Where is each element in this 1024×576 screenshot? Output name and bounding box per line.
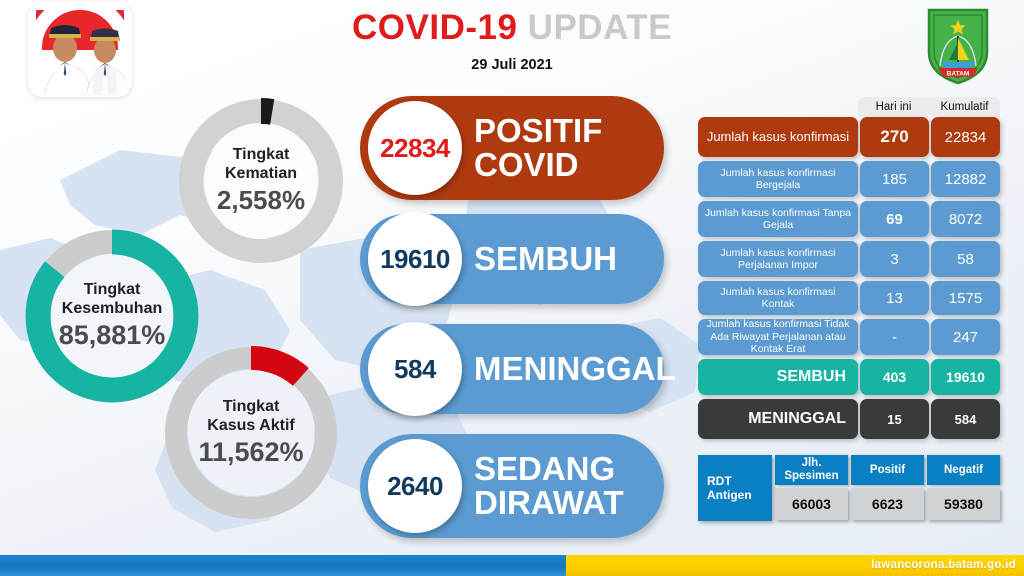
stat-card-meninggal[interactable]: 584 MENINGGAL	[360, 324, 664, 414]
table-row[interactable]: Jumlah kasus konfirmasi Perjalanan Impor…	[698, 241, 1000, 277]
stat-number-meninggal: 584	[394, 354, 436, 385]
row-value-cumulative: 247	[931, 319, 1000, 355]
row-value-cumulative: 584	[931, 399, 1000, 439]
stat-label-positif-l2: COVID	[474, 148, 602, 182]
table-row[interactable]: Jumlah kasus konfirmasi Tidak Ada Riwaya…	[698, 319, 1000, 355]
infographic-canvas: BATAM COVID-19 UPDATE 29 Juli 2021 Tingk…	[0, 0, 1024, 576]
stat-label-dirawat-l1: SEDANG	[474, 452, 624, 486]
rdt-column-spesimen: Jlh. Spesimen 66003	[775, 455, 848, 521]
stat-card-positif-covid[interactable]: 22834 POSITIF COVID	[360, 96, 664, 200]
table-row-sembuh[interactable]: SEMBUH 403 19610	[698, 359, 1000, 395]
rdt-label-l2: Antigen	[707, 488, 752, 502]
stat-card-sedang-dirawat[interactable]: 2640 SEDANG DIRAWAT	[360, 434, 664, 538]
row-value-today: 69	[860, 201, 929, 237]
officials-photo	[28, 2, 132, 97]
stat-badge-meninggal: 584	[368, 322, 462, 416]
rdt-label-l1: RDT	[707, 474, 752, 488]
table-row[interactable]: Jumlah kasus konfirmasi Tanpa Gejala 69 …	[698, 201, 1000, 237]
table-header-row: Hari ini Kumulatif	[858, 97, 1000, 117]
row-value-today: 13	[860, 281, 929, 315]
row-value-today: 185	[860, 161, 929, 197]
row-label: Jumlah kasus konfirmasi	[698, 117, 858, 157]
stat-badge-dirawat: 2640	[368, 439, 462, 533]
row-label: Jumlah kasus konfirmasi Tidak Ada Riwaya…	[698, 319, 858, 355]
stat-badge-sembuh: 19610	[368, 212, 462, 306]
rdt-value-positif: 6623	[851, 488, 924, 520]
row-label: Jumlah kasus konfirmasi Perjalanan Impor	[698, 241, 858, 277]
stat-label-meninggal: MENINGGAL	[474, 352, 686, 386]
stat-card-sembuh[interactable]: 19610 SEMBUH	[360, 214, 664, 304]
rdt-value-negatif: 59380	[927, 488, 1000, 520]
donut-tingkat-kasus-aktif: Tingkat Kasus Aktif 11,562%	[156, 338, 346, 528]
footer-bar: lawancorona.batam.go.id	[0, 555, 1024, 576]
rdt-header-positif: Positif	[851, 455, 924, 485]
row-value-cumulative: 1575	[931, 281, 1000, 315]
row-value-today: 403	[860, 359, 929, 395]
crest-caption: BATAM	[947, 70, 970, 77]
row-value-cumulative: 8072	[931, 201, 1000, 237]
stat-label-dirawat: SEDANG DIRAWAT	[474, 452, 634, 519]
row-value-cumulative: 58	[931, 241, 1000, 277]
footer-blue-segment	[0, 555, 566, 576]
row-label: MENINGGAL	[698, 399, 858, 439]
row-label: SEMBUH	[698, 359, 858, 395]
rdt-value-spesimen: 66003	[775, 488, 848, 520]
row-value-today: 270	[860, 117, 929, 157]
rdt-column-negatif: Negatif 59380	[927, 455, 1000, 521]
table-row-meninggal[interactable]: MENINGGAL 15 584	[698, 399, 1000, 439]
rdt-antigen-table: RDT Antigen Jlh. Spesimen 66003 Positif …	[698, 455, 1000, 521]
case-statistics-table: Hari ini Kumulatif Jumlah kasus konfirma…	[698, 97, 1000, 443]
rdt-antigen-label: RDT Antigen	[698, 455, 772, 521]
table-row[interactable]: Jumlah kasus konfirmasi Kontak 13 1575	[698, 281, 1000, 315]
row-value-cumulative: 19610	[931, 359, 1000, 395]
row-label: Jumlah kasus konfirmasi Bergejala	[698, 161, 858, 197]
row-value-cumulative: 22834	[931, 117, 1000, 157]
stat-number-positif: 22834	[380, 133, 450, 164]
batam-crest: BATAM	[917, 4, 999, 86]
row-value-today: 3	[860, 241, 929, 277]
row-value-cumulative: 12882	[931, 161, 1000, 197]
table-row[interactable]: Jumlah kasus konfirmasi 270 22834	[698, 117, 1000, 157]
table-row[interactable]: Jumlah kasus konfirmasi Bergejala 185 12…	[698, 161, 1000, 197]
stat-label-positif: POSITIF COVID	[474, 114, 612, 181]
stat-number-dirawat: 2640	[387, 471, 443, 502]
rdt-header-spesimen: Jlh. Spesimen	[775, 455, 848, 485]
stat-label-meninggal-l1: MENINGGAL	[474, 352, 676, 386]
stat-badge-positif: 22834	[368, 101, 462, 195]
footer-website[interactable]: lawancorona.batam.go.id	[871, 555, 1016, 576]
row-value-today: -	[860, 319, 929, 355]
stat-label-positif-l1: POSITIF	[474, 114, 602, 148]
rdt-header-negatif: Negatif	[927, 455, 1000, 485]
stat-label-dirawat-l2: DIRAWAT	[474, 486, 624, 520]
stat-label-sembuh-l1: SEMBUH	[474, 242, 617, 276]
stat-label-sembuh: SEMBUH	[474, 242, 627, 276]
row-label: Jumlah kasus konfirmasi Tanpa Gejala	[698, 201, 858, 237]
column-header-hari-ini: Hari ini	[858, 97, 929, 117]
column-header-kumulatif: Kumulatif	[929, 97, 1000, 117]
rdt-column-positif: Positif 6623	[851, 455, 924, 521]
row-value-today: 15	[860, 399, 929, 439]
row-label: Jumlah kasus konfirmasi Kontak	[698, 281, 858, 315]
stat-number-sembuh: 19610	[380, 244, 450, 275]
